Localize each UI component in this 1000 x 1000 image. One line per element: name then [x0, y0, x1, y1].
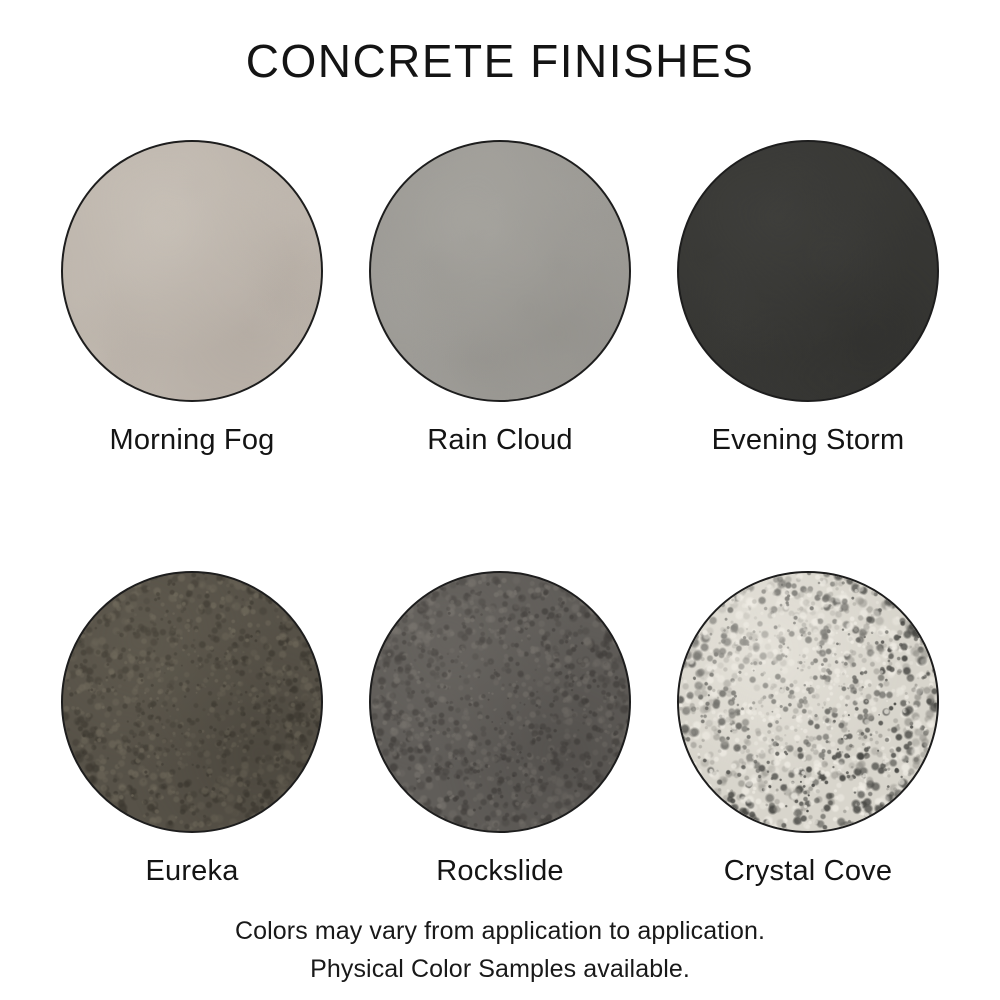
swatch-texture — [679, 573, 937, 831]
swatch-cell-crystal-cove[interactable]: Crystal Cove — [675, 571, 941, 888]
swatch-cell-morning-fog[interactable]: Morning Fog — [59, 140, 325, 457]
swatch-row-1: Morning Fog Rain Cloud Evening Storm — [0, 140, 1000, 457]
swatch-disc-rockslide[interactable] — [369, 571, 631, 833]
swatch-cell-rain-cloud[interactable]: Rain Cloud — [367, 140, 633, 457]
swatch-disc-rain-cloud[interactable] — [369, 140, 631, 402]
swatch-label-rockslide: Rockslide — [436, 855, 564, 888]
swatch-disc-crystal-cove[interactable] — [677, 571, 939, 833]
swatch-label-morning-fog: Morning Fog — [110, 424, 275, 457]
swatch-cell-rockslide[interactable]: Rockslide — [367, 571, 633, 888]
swatch-texture — [679, 142, 937, 400]
footnotes: Colors may vary from application to appl… — [0, 912, 1000, 988]
swatch-texture — [371, 142, 629, 400]
swatch-label-crystal-cove: Crystal Cove — [724, 855, 892, 888]
swatch-row-2: Eureka Rockslide Crystal Cove — [0, 571, 1000, 888]
swatch-label-rain-cloud: Rain Cloud — [427, 424, 572, 457]
swatch-cell-evening-storm[interactable]: Evening Storm — [675, 140, 941, 457]
page-title: CONCRETE FINISHES — [0, 34, 1000, 88]
swatch-disc-evening-storm[interactable] — [677, 140, 939, 402]
swatch-label-evening-storm: Evening Storm — [712, 424, 905, 457]
swatch-label-eureka: Eureka — [145, 855, 238, 888]
footnote-line-2: Physical Color Samples available. — [0, 950, 1000, 988]
swatch-texture — [63, 573, 321, 831]
swatch-disc-eureka[interactable] — [61, 571, 323, 833]
swatch-grid: Morning Fog Rain Cloud Evening Storm — [0, 140, 1000, 888]
swatch-texture — [63, 142, 321, 400]
swatch-texture — [371, 573, 629, 831]
footnote-line-1: Colors may vary from application to appl… — [0, 912, 1000, 950]
swatch-disc-morning-fog[interactable] — [61, 140, 323, 402]
color-chart-page: CONCRETE FINISHES Morning Fog Rain Cloud — [0, 0, 1000, 1000]
swatch-cell-eureka[interactable]: Eureka — [59, 571, 325, 888]
